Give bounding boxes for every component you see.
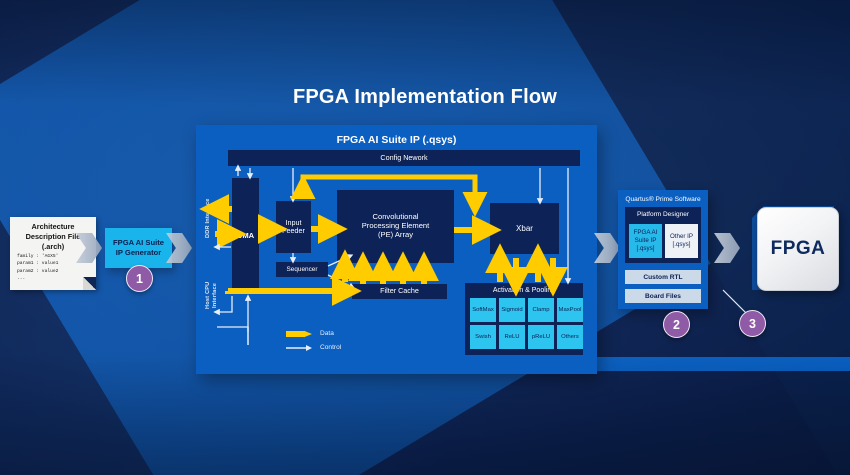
page-title: FPGA Implementation Flow	[0, 86, 850, 109]
pd-other-line-2: [.qsys]	[670, 241, 693, 249]
board-files-row: Board Files	[625, 289, 701, 303]
activation-cell-relu: ReLU	[499, 325, 525, 349]
config-network-block: Config Nework	[228, 150, 580, 166]
step-badge-1: 1	[126, 265, 153, 292]
xbar-block: Xbar	[490, 203, 559, 254]
sequencer-block: Sequencer	[276, 262, 328, 277]
input-feeder-block: Input Feeder	[276, 201, 311, 253]
arch-title-line-1: Architecture	[10, 222, 96, 232]
activation-cell-clamp: Clamp	[528, 298, 554, 322]
platform-designer-title: Platform Designer	[625, 211, 701, 218]
step-badge-3: 3	[739, 310, 766, 337]
pd-ip-line-3: [.qsys]	[634, 245, 658, 253]
generator-line-2: IP Generator	[113, 248, 164, 258]
platform-designer-ip-other: Other IP [.qsys]	[665, 224, 698, 258]
activation-cell-maxpool: MaxPool	[557, 298, 583, 322]
pe-array-block: Convolutional Processing Element (PE) Ar…	[337, 190, 454, 263]
activation-cell-swish: Swish	[470, 325, 496, 349]
ddr-interface-label: DDR Interface	[205, 198, 212, 238]
pe-array-line-3: (PE) Array	[362, 231, 430, 240]
custom-rtl-row: Custom RTL	[625, 270, 701, 284]
ddr-interface-text: DDR Interface	[205, 198, 211, 238]
legend-label-control: Control	[320, 344, 341, 351]
step-badge-2: 2	[663, 311, 690, 338]
pd-ip-line-2: Suite IP	[634, 237, 658, 245]
dma-block: DMA	[232, 178, 259, 294]
pd-ip-line-1: FPGA AI	[634, 229, 658, 237]
host-cpu-interface-label: Host CPU Interface	[205, 272, 219, 318]
activation-pooling-title: Activation & Pooling	[465, 283, 583, 295]
legend-arrow-icons	[286, 330, 316, 360]
diagram-canvas: FPGA Implementation Flow Architecture De…	[0, 0, 850, 475]
quartus-title: Quartus® Prime Software	[618, 196, 708, 203]
host-cpu-interface-text: Host CPU Interface	[205, 281, 218, 308]
activation-cell-sigmoid: Sigmoid	[499, 298, 525, 322]
fpga-ai-suite-ip-generator-block: FPGA AI Suite IP Generator	[105, 228, 172, 268]
activation-cell-softmax: SoftMax	[470, 298, 496, 322]
generator-label: FPGA AI Suite IP Generator	[113, 238, 164, 258]
activation-cell-others: Others	[557, 325, 583, 349]
pd-other-line-1: Other IP	[670, 233, 693, 241]
input-feeder-line-1: Input Feeder	[282, 219, 305, 236]
filter-cache-block: Filter Cache	[352, 284, 447, 299]
legend-label-data: Data	[320, 330, 334, 337]
platform-designer-ip-fpga-ai-suite: FPGA AI Suite IP [.qsys]	[629, 224, 662, 258]
activation-cell-prelu: pReLU	[528, 325, 554, 349]
generator-line-1: FPGA AI Suite	[113, 238, 164, 248]
fpga-chip: FPGA	[757, 207, 839, 291]
ip-panel-title: FPGA AI Suite IP (.qsys)	[196, 134, 597, 146]
